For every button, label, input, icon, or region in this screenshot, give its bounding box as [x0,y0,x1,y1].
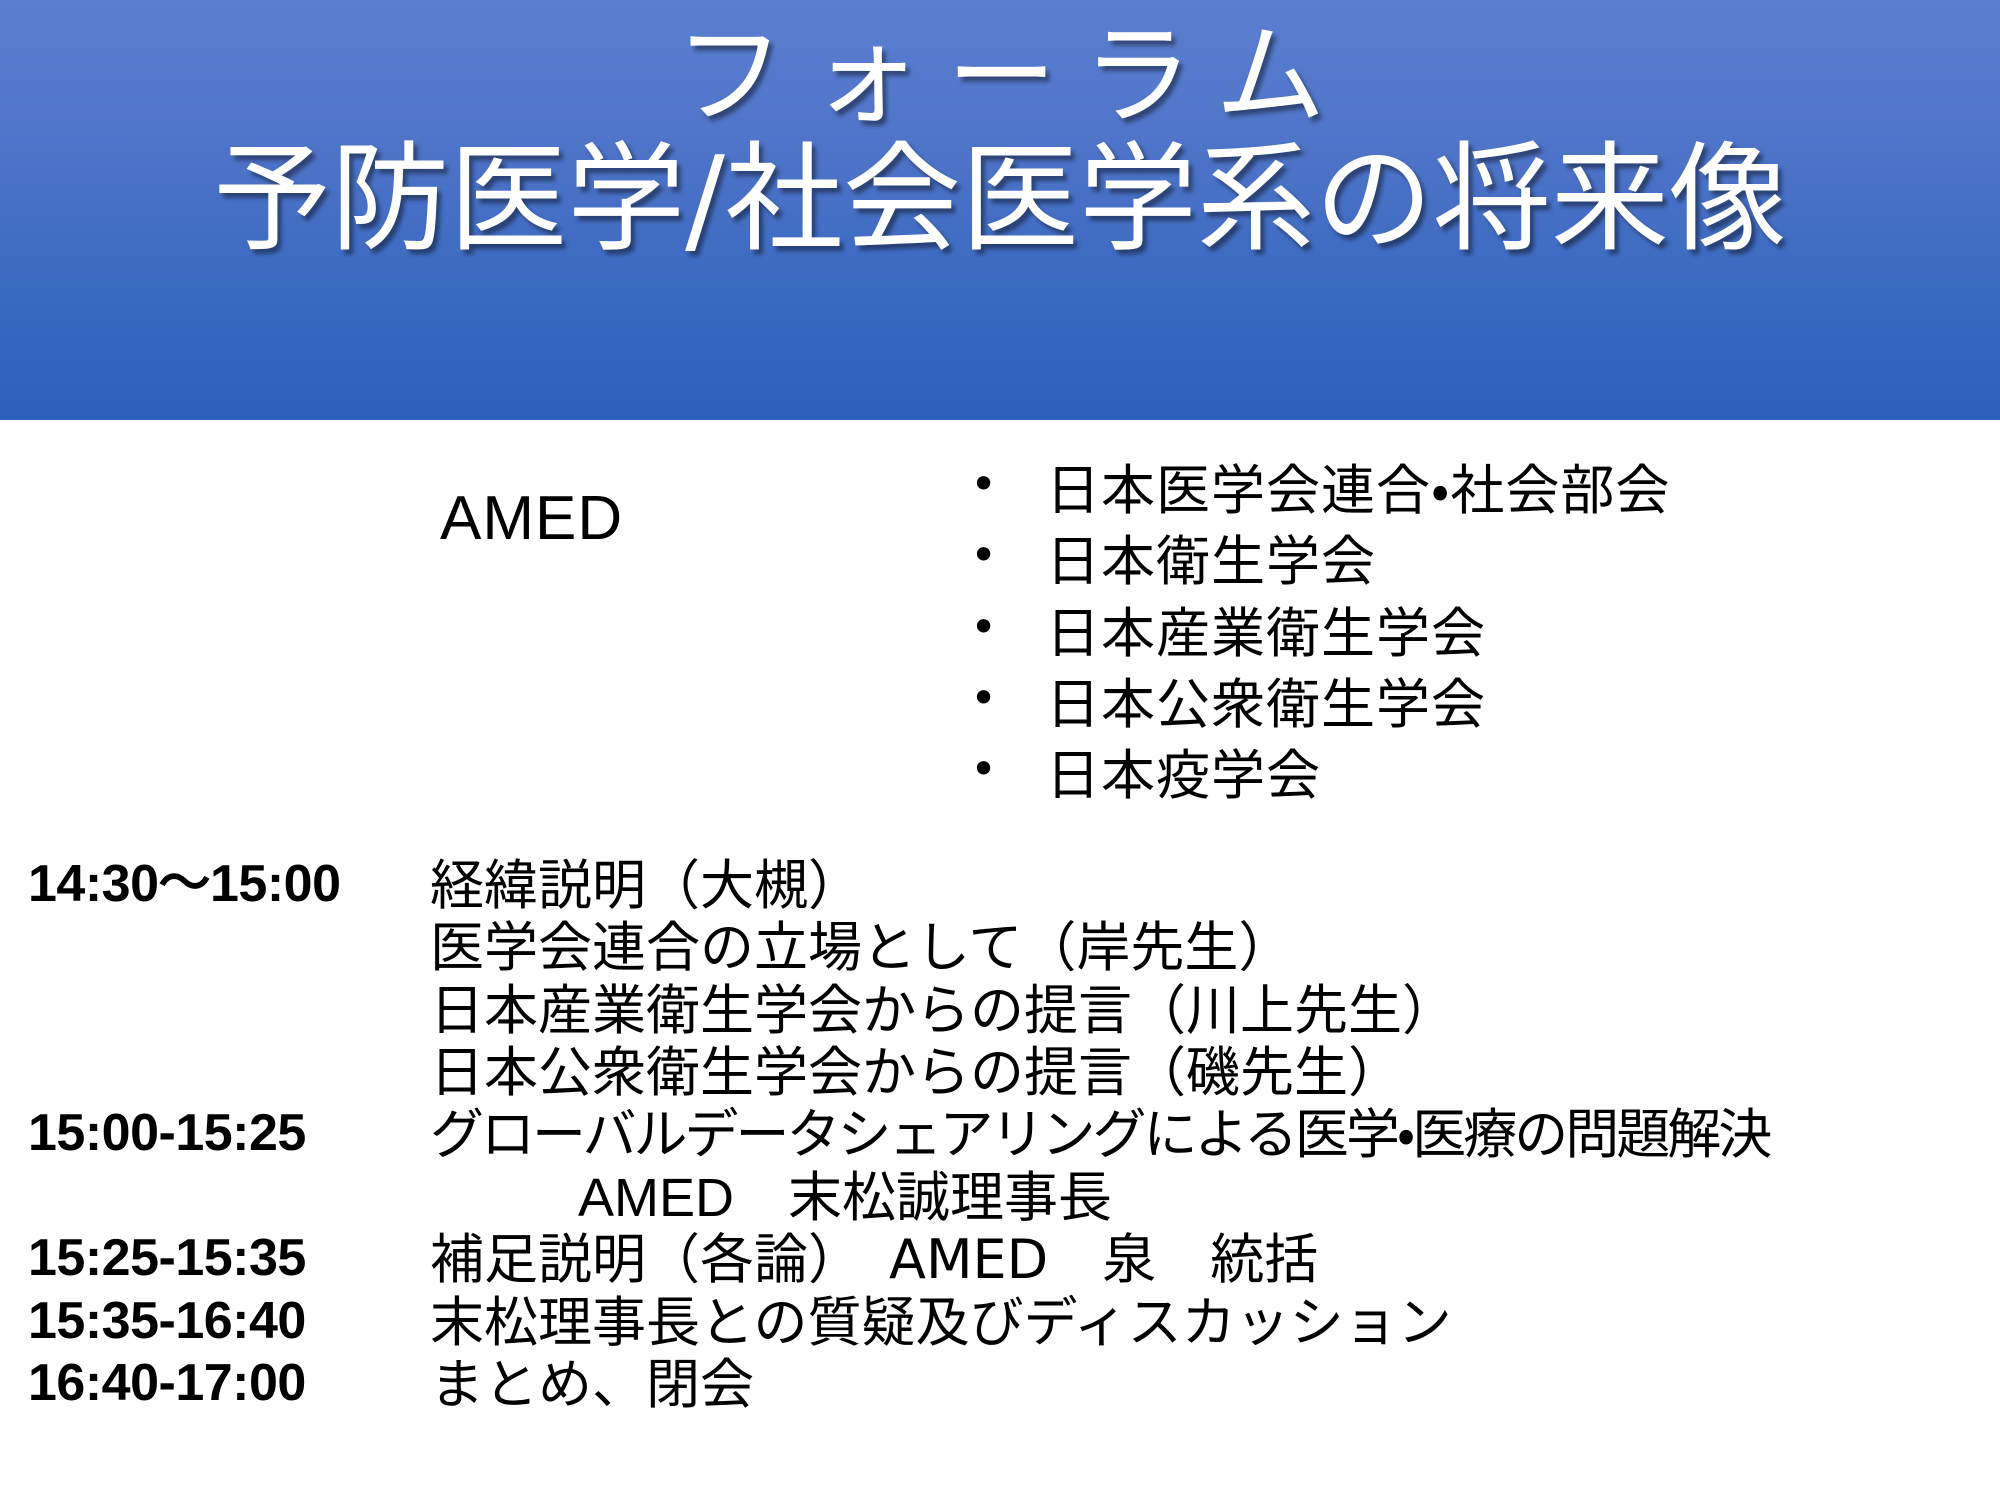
schedule-row: 14:30〜15:00 経緯説明（大槻） 医学会連合の立場として（岸先生） 日本… [0,855,2000,1104]
schedule-line: まとめ、閉会 [430,1354,2000,1416]
schedule-line: AMED 末松誠理事長 [430,1167,2000,1229]
society-name: 日本医学会連合・社会部会 [1046,459,1670,522]
bullet-icon: • [970,738,998,801]
schedule-line: グローバルデータシェアリングによる医学・医療の問題解決 [430,1104,2000,1166]
list-item: • 日本公衆衛生学会 [960,669,1670,740]
schedule-row: 15:00-15:25 グローバルデータシェアリングによる医学・医療の問題解決 … [0,1104,2000,1229]
schedule-description: まとめ、閉会 [430,1354,2000,1416]
schedule-time: 15:25-15:35 [0,1229,430,1288]
bullet-icon: • [970,524,998,587]
schedule-line: 医学会連合の立場として（岸先生） [430,917,2000,979]
list-item: • 日本産業衛生学会 [960,598,1670,669]
schedule-time: 15:35-16:40 [0,1292,430,1351]
schedule-row: 16:40-17:00 まとめ、閉会 [0,1354,2000,1416]
schedule-time: 16:40-17:00 [0,1354,430,1413]
slide-title-line-1: フォーラム [649,18,1352,135]
organisers-block: AMED • 日本医学会連合・社会部会 • 日本衛生学会 • 日本産業衛生学会 … [0,455,2000,825]
schedule-time: 15:00-15:25 [0,1104,430,1163]
schedule-table: 14:30〜15:00 経緯説明（大槻） 医学会連合の立場として（岸先生） 日本… [0,855,2000,1416]
schedule-row: 15:25-15:35 補足説明（各論） AMED 泉 統括 [0,1229,2000,1291]
slide-title-line-2: 予防医学/社会医学系の将来像 [213,137,1787,262]
schedule-description: 補足説明（各論） AMED 泉 統括 [430,1229,2000,1291]
amed-organiser-label: AMED [440,483,623,554]
schedule-line: 経緯説明（大槻） [430,855,2000,917]
title-band: フォーラム 予防医学/社会医学系の将来像 [0,0,2000,420]
schedule-description: 末松理事長との質疑及びディスカッション [430,1292,2000,1354]
schedule-line: 日本産業衛生学会からの提言（川上先生） [430,980,2000,1042]
schedule-description: グローバルデータシェアリングによる医学・医療の問題解決 AMED 末松誠理事長 [430,1104,2000,1229]
list-item: • 日本疫学会 [960,740,1670,811]
bullet-icon: • [970,596,998,659]
schedule-description: 経緯説明（大槻） 医学会連合の立場として（岸先生） 日本産業衛生学会からの提言（… [430,855,2000,1104]
society-name: 日本疫学会 [1046,744,1321,807]
society-name: 日本衛生学会 [1046,530,1376,593]
schedule-row: 15:35-16:40 末松理事長との質疑及びディスカッション [0,1292,2000,1354]
bullet-icon: • [970,453,998,516]
list-item: • 日本衛生学会 [960,526,1670,597]
slide-canvas: フォーラム 予防医学/社会医学系の将来像 AMED • 日本医学会連合・社会部会… [0,0,2000,1500]
society-name: 日本産業衛生学会 [1046,602,1486,665]
society-list: • 日本医学会連合・社会部会 • 日本衛生学会 • 日本産業衛生学会 • 日本公… [960,455,1670,811]
bullet-icon: • [970,667,998,730]
schedule-line: 日本公衆衛生学会からの提言（磯先生） [430,1042,2000,1104]
schedule-line: 末松理事長との質疑及びディスカッション [430,1292,2000,1354]
society-name: 日本公衆衛生学会 [1046,673,1486,736]
list-item: • 日本医学会連合・社会部会 [960,455,1670,526]
schedule-time: 14:30〜15:00 [0,855,430,914]
schedule-line: 補足説明（各論） AMED 泉 統括 [430,1229,2000,1291]
